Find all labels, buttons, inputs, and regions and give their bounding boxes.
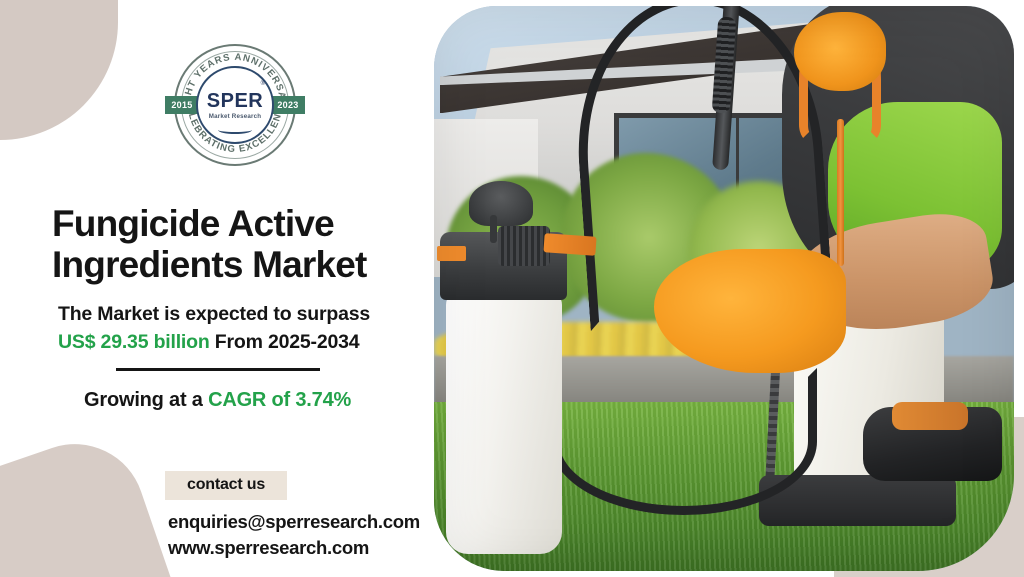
anniversary-badge: EIGHT YEARS ANNIVERSARY CELEBRATING EXCE… <box>174 44 296 166</box>
contact-us-tag: contact us <box>165 471 287 500</box>
hero-photo <box>434 6 1014 571</box>
photo-handheld-sprayer-bottle <box>446 289 562 555</box>
badge-year-start: 2015 <box>165 96 199 114</box>
photo-handheld-sprayer-knob <box>469 181 533 226</box>
photo-handheld-sprayer-stem <box>490 215 497 243</box>
marketing-banner: EIGHT YEARS ANNIVERSARY CELEBRATING EXCE… <box>0 0 1024 577</box>
photo-shoe-accent <box>892 402 967 430</box>
contact-website[interactable]: www.sperresearch.com <box>168 537 369 559</box>
market-period-text: From 2025-2034 <box>215 331 360 353</box>
decorative-shape-top-left <box>0 0 118 140</box>
page-title: Fungicide Active Ingredients Market <box>52 203 432 286</box>
badge-brand-name: SPER <box>207 91 263 111</box>
market-value-statement: The Market is expected to surpass US$ 29… <box>58 300 438 357</box>
photo-glove-upper <box>794 12 887 91</box>
cagr-value: CAGR of 3.74% <box>208 389 351 411</box>
registered-trademark-icon: ® <box>261 81 265 87</box>
contact-email[interactable]: enquiries@sperresearch.com <box>168 511 420 533</box>
market-value-amount: US$ 29.35 billion <box>58 331 210 353</box>
cagr-prefix-text: Growing at a <box>84 389 208 411</box>
photo-handheld-sprayer-valve <box>498 226 550 266</box>
photo-hose-lower <box>550 368 817 515</box>
surpass-prefix-text: The Market is expected to surpass <box>58 303 370 325</box>
photo-handheld-sprayer-tab <box>437 246 466 261</box>
badge-center: SPER Market Research ® <box>196 66 274 144</box>
photo-pump-rod <box>837 119 844 266</box>
badge-swoosh-icon <box>218 126 252 134</box>
cagr-statement: Growing at a CAGR of 3.74% <box>84 389 424 412</box>
section-divider <box>116 368 320 371</box>
decorative-shape-bottom-left <box>0 425 180 577</box>
badge-brand-subtitle: Market Research <box>209 113 262 120</box>
badge-year-end: 2023 <box>271 96 305 114</box>
photo-handheld-sprayer-nozzle <box>544 233 597 256</box>
